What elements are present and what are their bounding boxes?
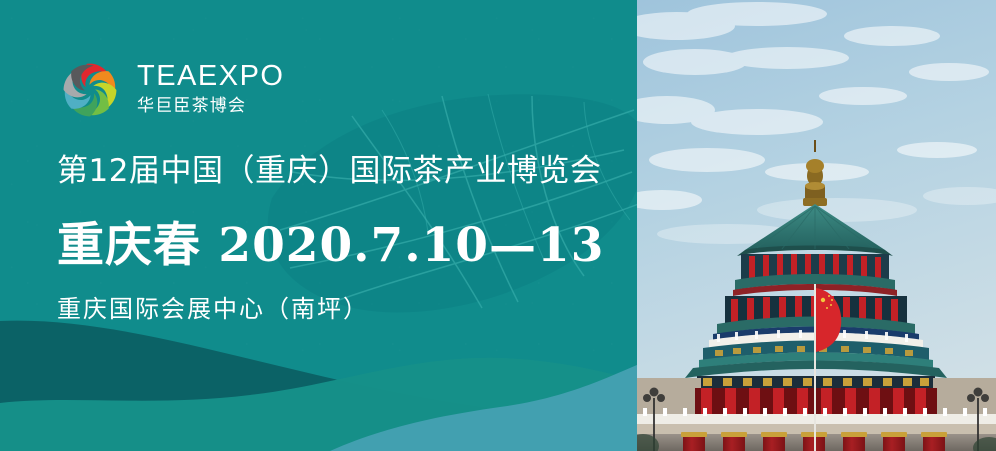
tea-expo-banner: TEAEXPO 华巨臣茶博会 第12届中国（重庆）国际茶产业博览会 重庆春 20… <box>0 0 996 451</box>
brand-logo-text: TEAEXPO 华巨臣茶博会 <box>137 60 285 119</box>
brand-logo: TEAEXPO 华巨臣茶博会 <box>57 57 285 123</box>
layered-wave-hills-icon <box>0 311 637 451</box>
event-title: 第12届中国（重庆）国际茶产业博览会 <box>57 152 604 191</box>
teaexpo-swirl-logo-icon <box>57 57 123 123</box>
brand-name-en: TEAEXPO <box>137 62 285 92</box>
brand-name-cn: 华巨臣茶博会 <box>137 94 285 120</box>
teal-info-panel: TEAEXPO 华巨臣茶博会 第12届中国（重庆）国际茶产业博览会 重庆春 20… <box>0 0 637 451</box>
event-date: 重庆春 2020.7.10—13 <box>57 218 604 274</box>
event-venue: 重庆国际会展中心（南坪） <box>57 294 604 325</box>
event-text-block: 第12届中国（重庆）国际茶产业博览会 重庆春 2020.7.10—13 重庆国际… <box>57 152 604 325</box>
chongqing-great-hall-of-the-people-photo <box>637 0 996 451</box>
